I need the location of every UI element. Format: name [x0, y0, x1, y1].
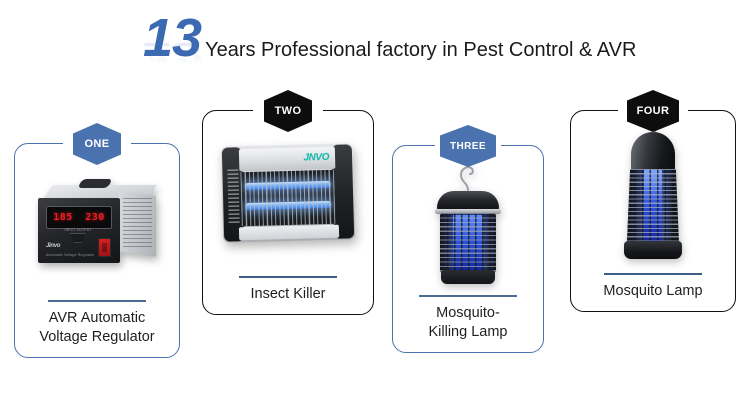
killer-electric-grid	[240, 170, 335, 226]
product-caption-two: Insect Killer	[245, 285, 332, 314]
lamp-grid-body	[440, 213, 496, 273]
lamp-lid	[437, 191, 499, 211]
lamp-base	[624, 241, 682, 259]
hook-icon	[457, 155, 479, 191]
product-image-hanging-lamp	[393, 146, 543, 295]
avr-knob	[70, 233, 86, 243]
product-card-four[interactable]: FOUR Mosquito Lamp	[570, 110, 736, 312]
caption-divider	[419, 295, 517, 298]
insect-killer-device: JNVO	[221, 144, 355, 243]
product-card-one[interactable]: ONE 185 230 INPUT OUTPUT Jinvo Automatic…	[14, 143, 180, 358]
avr-brand-logo: Jinvo	[46, 243, 60, 249]
avr-vent-side	[118, 191, 156, 257]
uv-tube-1	[245, 181, 331, 190]
product-image-tall-lamp	[571, 111, 735, 273]
caption-divider	[48, 300, 146, 303]
product-caption-one: AVR Automatic Voltage Regulator	[33, 309, 160, 357]
headline-text: Years Professional factory in Pest Contr…	[205, 39, 636, 62]
product-image-insect-killer: JNVO	[203, 111, 373, 276]
avr-front-panel: 185 230 INPUT OUTPUT Jinvo Automatic Vol…	[38, 198, 120, 263]
product-caption-three: Mosquito- Killing Lamp	[423, 304, 514, 352]
years-number: 13	[143, 14, 201, 62]
lamp-dome	[631, 132, 675, 172]
avr-led-display: 185 230	[46, 206, 112, 229]
header-banner: 13 13 Years Professional factory in Pest…	[0, 14, 750, 80]
avr-display-labels: INPUT OUTPUT	[50, 228, 106, 232]
product-card-three[interactable]: THREE Mosquito- Killing Lamp	[392, 145, 544, 353]
hanging-mosquito-lamp-device	[431, 155, 505, 285]
caption-divider	[239, 276, 337, 279]
avr-handle	[77, 179, 112, 188]
product-caption-four: Mosquito Lamp	[597, 282, 708, 311]
avr-brand-subtitle: Automatic Voltage Regulator	[46, 253, 94, 257]
avr-input-voltage: 185	[53, 212, 73, 223]
product-image-avr: 185 230 INPUT OUTPUT Jinvo Automatic Vol…	[15, 144, 179, 300]
tall-mosquito-lamp-device	[621, 119, 685, 265]
avr-output-voltage: 230	[85, 212, 105, 223]
lamp-grid-body	[627, 169, 679, 243]
product-card-two[interactable]: TWO JNVO Insect Killer	[202, 110, 374, 315]
killer-top-bar: JNVO	[239, 147, 336, 172]
killer-brand-logo: JNVO	[303, 152, 329, 164]
avr-power-switch	[98, 238, 111, 257]
avr-device: 185 230 INPUT OUTPUT Jinvo Automatic Vol…	[38, 179, 156, 265]
caption-divider	[604, 273, 702, 276]
lamp-base	[441, 270, 495, 284]
uv-tube-2	[245, 201, 331, 210]
